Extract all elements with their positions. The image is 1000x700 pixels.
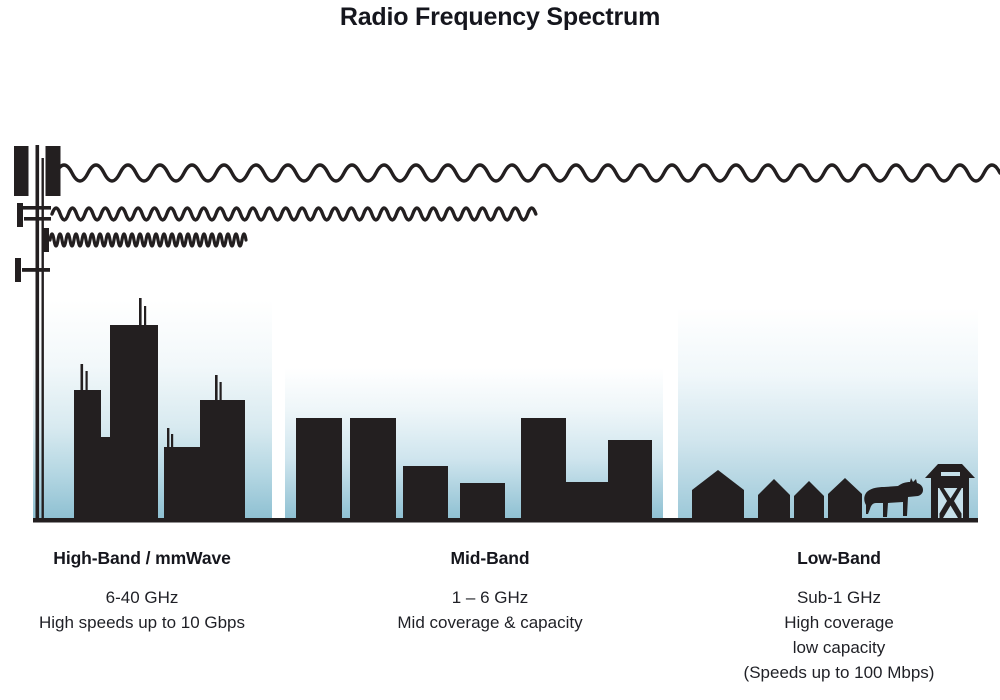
barn-body-top bbox=[931, 478, 969, 488]
skyscraper-4-spire-a bbox=[167, 428, 169, 448]
mid-building-7 bbox=[608, 440, 652, 520]
skyscraper-1 bbox=[74, 390, 101, 520]
mid-building-1 bbox=[296, 418, 342, 520]
column-high-band-line-1: 6-40 GHz bbox=[0, 585, 284, 610]
tower-antenna-panel-right bbox=[46, 146, 61, 196]
tower-mast-left bbox=[36, 145, 40, 520]
column-low-band: Low-Band Sub-1 GHz High coverage low cap… bbox=[700, 548, 978, 685]
column-mid-band-line-1: 1 – 6 GHz bbox=[352, 585, 628, 610]
column-high-band-lines: 6-40 GHz High speeds up to 10 Gbps bbox=[0, 585, 284, 635]
skyscraper-1-spire-a bbox=[81, 364, 84, 391]
column-low-band-line-2: High coverage bbox=[700, 610, 978, 635]
column-high-band: High-Band / mmWave 6-40 GHz High speeds … bbox=[0, 548, 284, 635]
column-low-band-title: Low-Band bbox=[700, 548, 978, 569]
tower-crossarm-lower bbox=[22, 268, 50, 272]
column-low-band-line-1: Sub-1 GHz bbox=[700, 585, 978, 610]
skyscraper-5 bbox=[200, 400, 245, 520]
mid-building-2 bbox=[350, 418, 396, 520]
wave-group bbox=[50, 165, 1000, 246]
barn-body-outline bbox=[931, 487, 937, 520]
mid-building-6 bbox=[566, 482, 609, 520]
skyscraper-4 bbox=[164, 447, 202, 520]
column-low-band-line-4: (Speeds up to 100 Mbps) bbox=[700, 660, 978, 685]
tower-mast-right bbox=[42, 158, 44, 520]
mid-building-5 bbox=[521, 418, 566, 520]
tower-crossarm-upper bbox=[21, 206, 51, 210]
skyscraper-5-spire-a bbox=[215, 375, 218, 401]
column-low-band-lines: Sub-1 GHz High coverage low capacity (Sp… bbox=[700, 585, 978, 685]
tower-crossarm-mid bbox=[24, 217, 51, 221]
skyscraper-1-spire-b bbox=[86, 371, 88, 391]
column-mid-band: Mid-Band 1 – 6 GHz Mid coverage & capaci… bbox=[352, 548, 628, 635]
column-mid-band-lines: 1 – 6 GHz Mid coverage & capacity bbox=[352, 585, 628, 635]
tower-antenna-panel-left bbox=[14, 146, 29, 196]
column-low-band-line-3: low capacity bbox=[700, 635, 978, 660]
mid-building-3 bbox=[403, 466, 448, 520]
skyscraper-5-spire-b bbox=[220, 382, 222, 401]
skyscraper-3 bbox=[110, 325, 158, 520]
infographic-canvas: Radio Frequency Spectrum bbox=[0, 0, 1000, 700]
tower-antenna-small-left-upper bbox=[17, 203, 23, 227]
column-high-band-line-2: High speeds up to 10 Gbps bbox=[0, 610, 284, 635]
skyscraper-4-spire-b bbox=[171, 434, 173, 448]
mid-frequency-wave bbox=[52, 208, 536, 220]
low-frequency-wave bbox=[56, 165, 1000, 181]
skyscraper-3-spire-a bbox=[139, 298, 142, 326]
skyscraper-2 bbox=[101, 437, 110, 520]
tower-antenna-small-mid bbox=[43, 228, 49, 252]
high-frequency-wave bbox=[50, 234, 246, 246]
mid-building-4 bbox=[460, 483, 505, 520]
skyscraper-3-spire-b bbox=[144, 306, 146, 326]
barn-body-outline-right bbox=[963, 487, 969, 520]
column-mid-band-title: Mid-Band bbox=[352, 548, 628, 569]
column-mid-band-line-2: Mid coverage & capacity bbox=[352, 610, 628, 635]
barn-hayloft-window bbox=[941, 472, 960, 476]
column-high-band-title: High-Band / mmWave bbox=[0, 548, 284, 569]
tower-antenna-small-left-lower bbox=[15, 258, 21, 282]
ground-line bbox=[33, 518, 978, 523]
